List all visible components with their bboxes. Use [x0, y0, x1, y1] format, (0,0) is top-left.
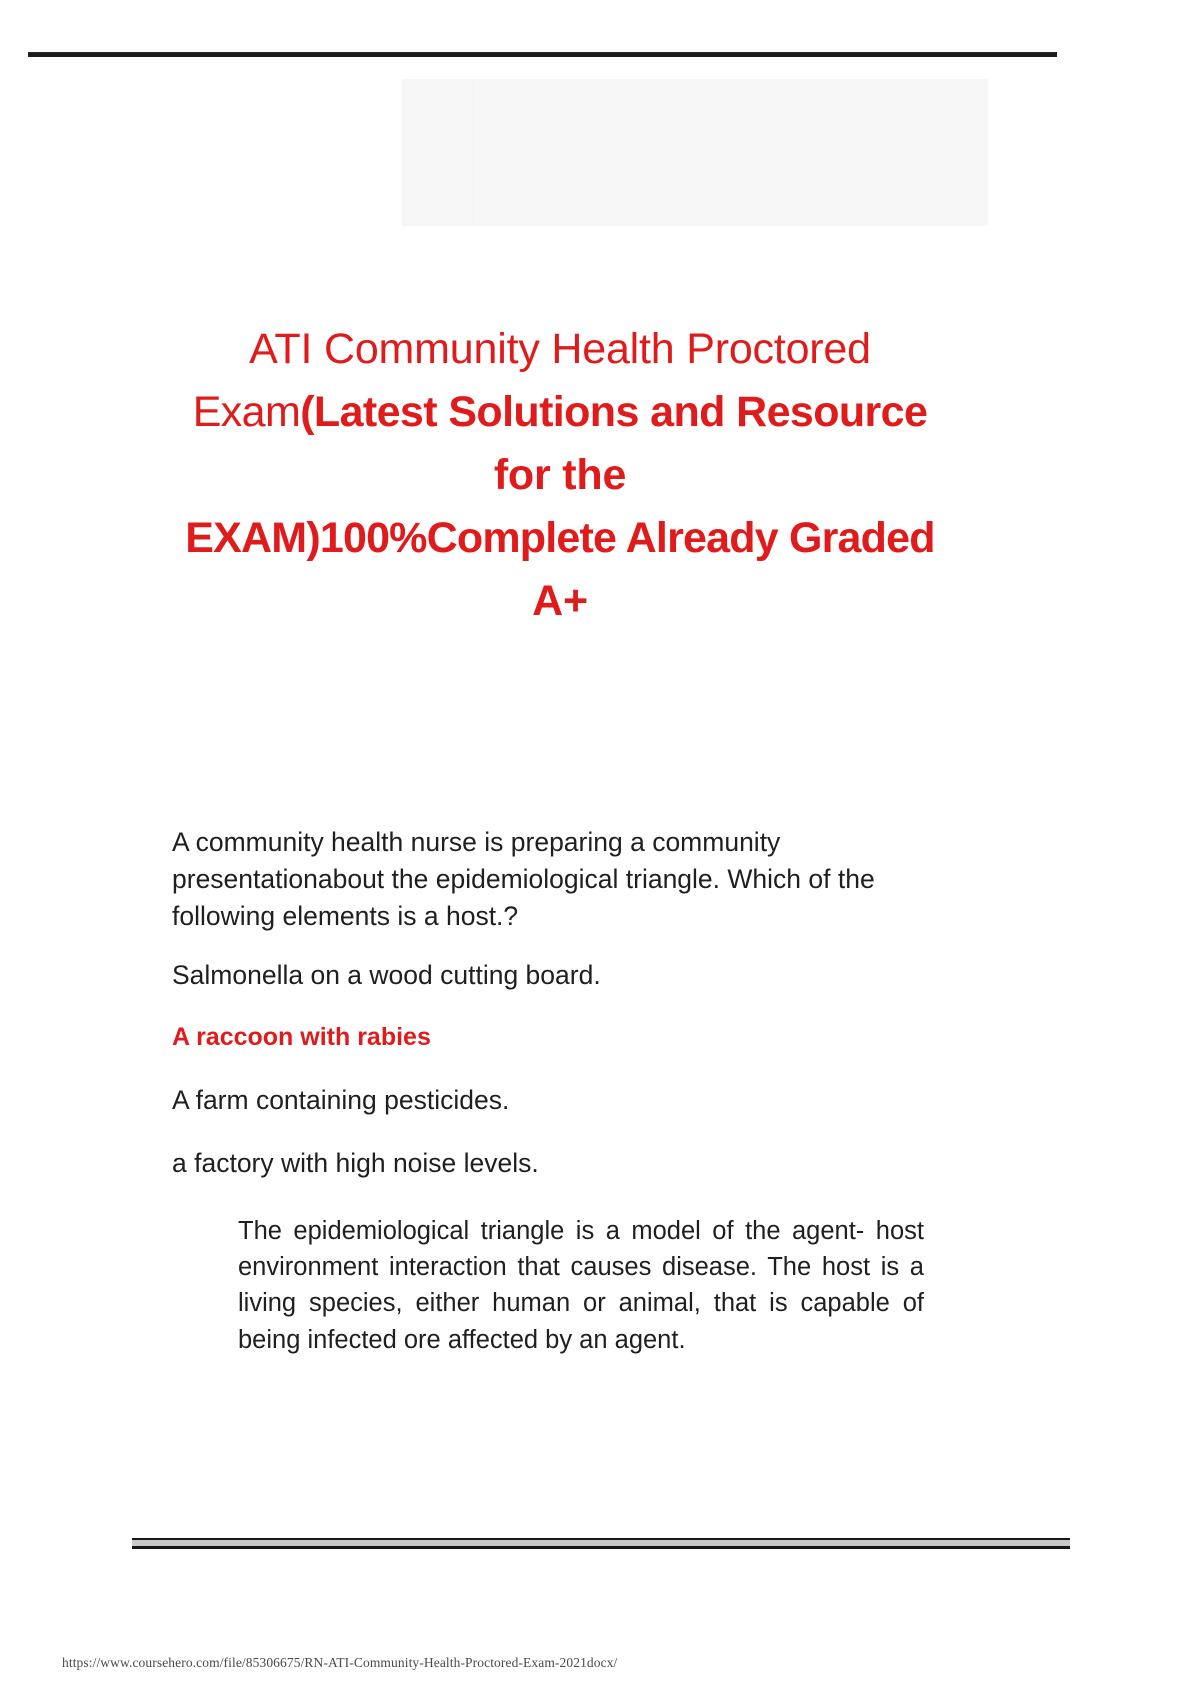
document-page: ATI Community Health Proctored Exam(Late…: [0, 0, 1200, 1700]
title-segment-bold: EXAM)100%Complete Already Graded: [185, 514, 934, 562]
document-title: ATI Community Health Proctored Exam(Late…: [150, 322, 970, 636]
title-segment-regular: Exam: [193, 388, 301, 436]
footer-source-url[interactable]: https://www.coursehero.com/file/85306675…: [62, 1655, 617, 1671]
rationale-paragraph: The epidemiological triangle is a model …: [238, 1213, 924, 1359]
title-line-3: for the: [150, 448, 970, 504]
title-line-2: Exam(Latest Solutions and Resource: [150, 385, 970, 441]
image-placeholder-seam: [473, 79, 474, 226]
title-segment-bold: for the: [494, 451, 626, 499]
header-image-placeholder: [402, 79, 988, 226]
answer-option-2-correct[interactable]: A raccoon with rabies: [172, 1020, 972, 1055]
answer-option-4[interactable]: a factory with high noise levels.: [172, 1145, 972, 1182]
question-text: A community health nurse is preparing a …: [172, 824, 972, 935]
title-line-4: EXAM)100%Complete Already Graded: [150, 511, 970, 567]
top-horizontal-rule: [28, 52, 1057, 57]
title-segment-regular: ATI Community Health Proctored: [249, 325, 871, 373]
title-line-1: ATI Community Health Proctored: [150, 322, 970, 378]
question-body: A community health nurse is preparing a …: [172, 824, 972, 1358]
title-line-5: A+: [150, 574, 970, 630]
title-segment-bold: (Latest Solutions and Resource: [300, 388, 927, 436]
title-segment-bold: A+: [532, 577, 588, 625]
bottom-horizontal-rule: [132, 1538, 1070, 1549]
answer-option-1[interactable]: Salmonella on a wood cutting board.: [172, 957, 972, 994]
answer-option-3[interactable]: A farm containing pesticides.: [172, 1082, 972, 1119]
